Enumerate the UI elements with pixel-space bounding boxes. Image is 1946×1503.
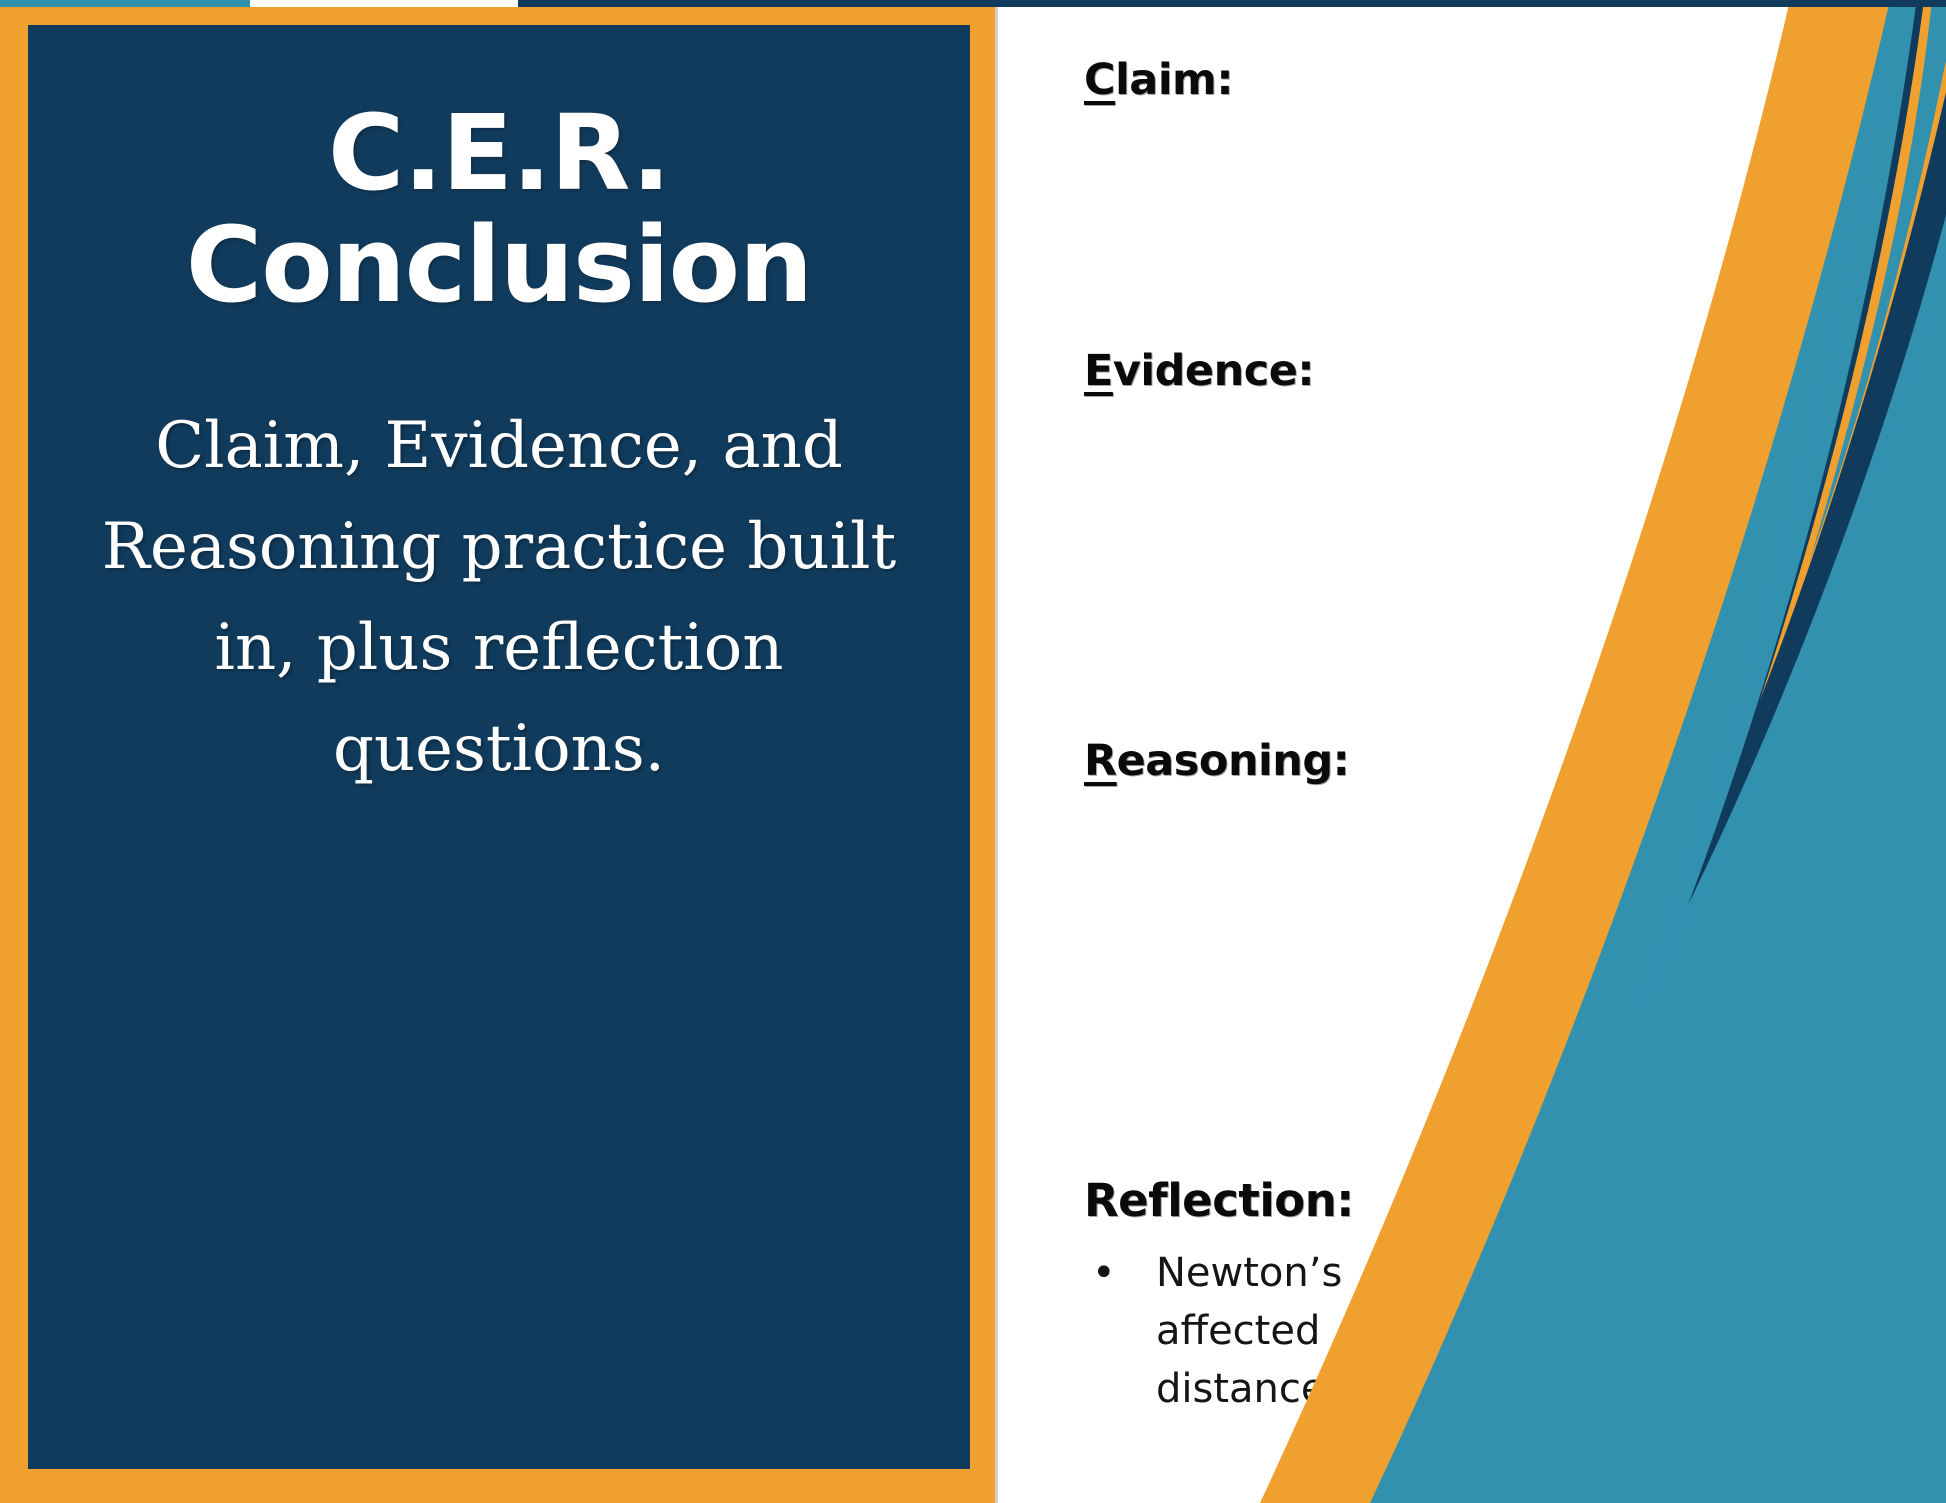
title-card-frame: C.E.R. Conclusion Claim, Evidence, and R… [0,0,997,1503]
reasoning-heading: Reasoning: [1084,736,1349,786]
page-title-line-1: C.E.R. [80,97,918,209]
evidence-heading: Evidence: [1084,346,1314,396]
evidence-heading-rest: vidence: [1113,346,1314,396]
top-strip-navy-segment [518,0,1946,7]
bullet-icon: • [1092,1244,1116,1302]
top-accent-strip [0,0,1946,7]
card-edge-divider [995,0,998,1503]
title-card: C.E.R. Conclusion Claim, Evidence, and R… [28,25,970,1469]
top-strip-teal-segment [0,0,250,7]
claim-heading-initial: C [1084,55,1115,105]
list-item: •Newton’s law affected b would distance [1084,1244,1514,1418]
document-page: Claim: Evidence: Reasoning: Reflection: … [998,0,1946,1503]
claim-heading: Claim: [1084,55,1233,105]
list-item-text: Newton’s law affected b would distance [1156,1250,1514,1412]
page-title-line-2: Conclusion [80,209,918,321]
evidence-heading-initial: E [1084,346,1113,396]
reasoning-heading-rest: easoning: [1117,736,1350,786]
page-subtitle: Claim, Evidence, and Reasoning practice … [80,322,918,800]
claim-heading-rest: laim: [1115,55,1233,105]
reflection-bullet-list: •Newton’s law affected b would distance [1084,1244,1514,1418]
reasoning-heading-initial: R [1084,736,1117,786]
presentation-slide: Claim: Evidence: Reasoning: Reflection: … [0,0,1946,1503]
page-title: C.E.R. Conclusion [80,25,918,322]
reflection-heading: Reflection: [1084,1174,1354,1227]
top-strip-white-segment [250,0,518,7]
